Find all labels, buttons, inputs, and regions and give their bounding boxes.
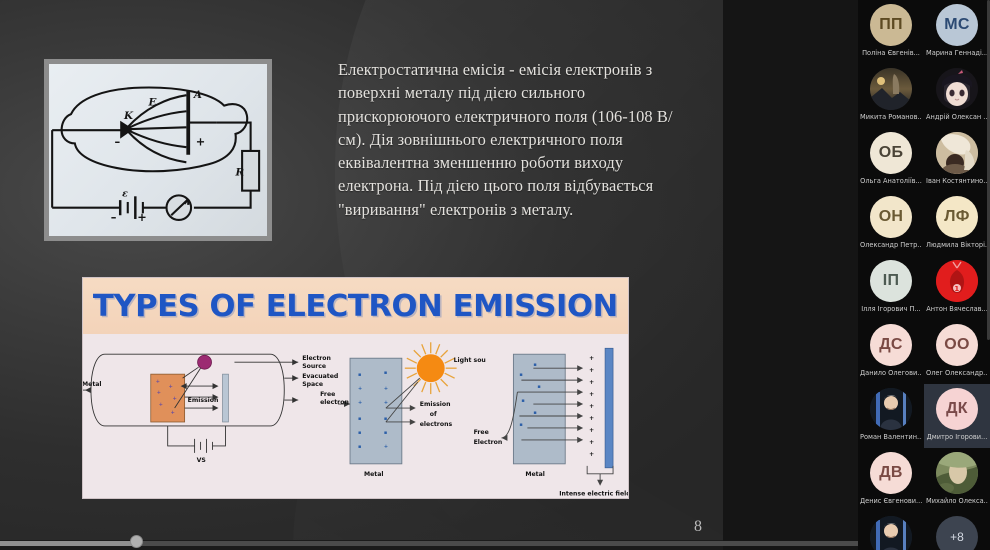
participant-name: Андрій Олексан ...: [926, 113, 988, 121]
svg-text:▪: ▪: [533, 410, 536, 416]
svg-text:+: +: [196, 134, 206, 148]
svg-text:+: +: [384, 400, 388, 406]
avatar-initials: ОО: [936, 324, 978, 366]
participant-name: Михайло Олекса...: [926, 497, 988, 505]
label-metal-1: Metal: [83, 381, 102, 388]
avatar-initials: ДК: [936, 388, 978, 430]
participant-tile[interactable]: Іван Костянтино...: [924, 128, 990, 192]
svg-text:▪: ▪: [358, 444, 361, 450]
participant-tile[interactable]: Микита Романов...: [858, 64, 924, 128]
svg-text:▪: ▪: [358, 372, 361, 378]
svg-text:+: +: [589, 427, 594, 434]
avatar-initials: ДВ: [870, 452, 912, 494]
participant-name: Поліна Євгенів...: [860, 49, 922, 57]
svg-text:▪: ▪: [537, 384, 540, 390]
svg-text:Electron: Electron: [474, 439, 503, 446]
svg-text:▪: ▪: [358, 416, 361, 422]
svg-text:+: +: [384, 444, 388, 450]
participant-tile[interactable]: [858, 512, 924, 550]
electron-emission-infographic: TYPES OF ELECTRON EMISSION +++ +++: [82, 277, 629, 499]
participants-overflow-count[interactable]: +8: [936, 516, 978, 550]
avatar-photo: [936, 452, 978, 494]
stage-letterbox-right: [723, 0, 858, 550]
svg-text:+: +: [589, 367, 594, 374]
svg-text:+: +: [589, 355, 594, 362]
svg-text:+: +: [159, 402, 163, 408]
participant-name: Марина Геннаді...: [926, 49, 988, 57]
participant-tile[interactable]: ОБОльга Анатоліїв...: [858, 128, 924, 192]
avatar-initials: ОБ: [870, 132, 912, 174]
avatar-photo: [870, 516, 912, 550]
svg-text:+: +: [156, 379, 160, 385]
svg-text:E: E: [148, 97, 158, 109]
svg-text:electrons: electrons: [420, 421, 453, 428]
participant-tile[interactable]: +8: [924, 512, 990, 550]
svg-text:+: +: [169, 384, 173, 390]
svg-text:Metal: Metal: [525, 471, 545, 478]
participant-tile[interactable]: ДСДанило Олегови...: [858, 320, 924, 384]
meeting-window: K E A R ε – + – + Електростатична емісія: [0, 0, 990, 550]
avatar-initials: ІП: [870, 260, 912, 302]
svg-text:–: –: [115, 134, 121, 148]
svg-text:Emission: Emission: [188, 397, 219, 404]
participant-tile[interactable]: ОНОлександр Петр...: [858, 192, 924, 256]
participant-name: Людмила Вікторі...: [926, 241, 988, 249]
svg-text:VS: VS: [197, 457, 206, 464]
participant-tile[interactable]: 1Антон Вячеслав...: [924, 256, 990, 320]
svg-text:+: +: [157, 390, 161, 396]
svg-text:Evacuated: Evacuated: [302, 373, 338, 380]
svg-text:▪: ▪: [358, 430, 361, 436]
participant-tile[interactable]: Михайло Олекса...: [924, 448, 990, 512]
participant-name: Данило Олегови...: [860, 369, 922, 377]
svg-text:+: +: [173, 396, 177, 402]
svg-text:ε: ε: [122, 188, 128, 199]
svg-text:+: +: [589, 391, 594, 398]
svg-text:Emission: Emission: [420, 401, 451, 408]
participant-tile[interactable]: ДКДмитро Ігорови...: [924, 384, 990, 448]
svg-text:A: A: [193, 89, 202, 101]
participant-name: Іван Костянтино...: [926, 177, 988, 185]
svg-text:+: +: [589, 439, 594, 446]
participants-grid: ПППоліна Євгенів...МСМарина Геннаді...Ми…: [858, 0, 990, 550]
svg-text:+: +: [589, 415, 594, 422]
avatar-initials: ЛФ: [936, 196, 978, 238]
svg-text:▪: ▪: [519, 422, 522, 428]
svg-text:Source: Source: [302, 363, 326, 370]
participant-tile[interactable]: ЛФЛюдмила Вікторі...: [924, 192, 990, 256]
participant-tile[interactable]: МСМарина Геннаді...: [924, 0, 990, 64]
svg-text:▪: ▪: [519, 372, 522, 378]
avatar-initials: ПП: [870, 4, 912, 46]
slide-number: 8: [694, 518, 702, 536]
participant-name: Денис Євгенови...: [860, 497, 922, 505]
svg-text:R: R: [234, 167, 244, 179]
presentation-slide[interactable]: K E A R ε – + – + Електростатична емісія: [0, 0, 723, 540]
presentation-progress-bar[interactable]: [0, 541, 858, 546]
avatar-initials: ДС: [870, 324, 912, 366]
svg-text:K: K: [123, 110, 134, 122]
svg-text:+: +: [384, 386, 388, 392]
participant-name: Ілля Ігорович П...: [860, 305, 922, 313]
svg-text:Electron: Electron: [302, 355, 331, 362]
slide-body-text: Електростатична емісія - емісія електрон…: [338, 58, 686, 221]
infographic-diagrams: +++ +++: [83, 334, 628, 499]
participant-name: Олег Олександр...: [926, 369, 988, 377]
participant-name: Дмитро Ігорови...: [926, 433, 988, 441]
svg-text:+: +: [589, 403, 594, 410]
avatar-photo: [870, 68, 912, 110]
infographic-banner: TYPES OF ELECTRON EMISSION: [83, 278, 628, 334]
avatar-photo: [936, 68, 978, 110]
svg-text:+: +: [358, 400, 362, 406]
svg-text:Light sou: Light sou: [454, 357, 486, 364]
participant-name: Антон Вячеслав...: [926, 305, 988, 313]
avatar-photo: [870, 388, 912, 430]
svg-text:+: +: [137, 210, 146, 224]
svg-text:–: –: [111, 210, 117, 224]
svg-text:+: +: [358, 386, 362, 392]
svg-text:▪: ▪: [533, 362, 536, 368]
shared-screen-stage[interactable]: K E A R ε – + – + Електростатична емісія: [0, 0, 858, 550]
svg-text:of: of: [430, 411, 437, 418]
participant-name: Ольга Анатоліїв...: [860, 177, 922, 185]
svg-text:Space: Space: [302, 381, 323, 388]
svg-text:+: +: [589, 379, 594, 386]
participant-tile[interactable]: ОООлег Олександр...: [924, 320, 990, 384]
svg-text:electron: electron: [320, 399, 349, 406]
svg-text:Free: Free: [320, 391, 335, 398]
participant-tile[interactable]: ІПІлля Ігорович П...: [858, 256, 924, 320]
svg-text:+: +: [171, 410, 175, 416]
svg-text:Metal: Metal: [364, 471, 384, 478]
participant-tile[interactable]: ПППоліна Євгенів...: [858, 0, 924, 64]
svg-text:+: +: [589, 451, 594, 458]
svg-text:▪: ▪: [384, 370, 387, 376]
participant-name: Микита Романов...: [860, 113, 922, 121]
avatar-photo: 1: [936, 260, 978, 302]
circuit-diagram-image: K E A R ε – + – +: [44, 59, 272, 241]
participant-tile[interactable]: Андрій Олексан ...: [924, 64, 990, 128]
svg-text:Free: Free: [474, 429, 489, 436]
svg-text:▪: ▪: [521, 398, 524, 404]
participant-tile[interactable]: ДВДенис Євгенови...: [858, 448, 924, 512]
avatar-photo: [936, 132, 978, 174]
svg-text:1: 1: [954, 285, 959, 293]
participant-name: Роман Валентин...: [860, 433, 922, 441]
svg-text:▪: ▪: [384, 430, 387, 436]
infographic-title: TYPES OF ELECTRON EMISSION: [93, 289, 618, 324]
participants-panel[interactable]: ПППоліна Євгенів...МСМарина Геннаді...Ми…: [858, 0, 990, 550]
avatar-initials: ОН: [870, 196, 912, 238]
svg-text:Intense electric field: Intense electric field: [559, 491, 628, 498]
participant-tile[interactable]: Роман Валентин...: [858, 384, 924, 448]
avatar-initials: МС: [936, 4, 978, 46]
progress-handle[interactable]: [130, 535, 143, 548]
participant-name: Олександр Петр...: [860, 241, 922, 249]
progress-fill: [0, 541, 137, 546]
